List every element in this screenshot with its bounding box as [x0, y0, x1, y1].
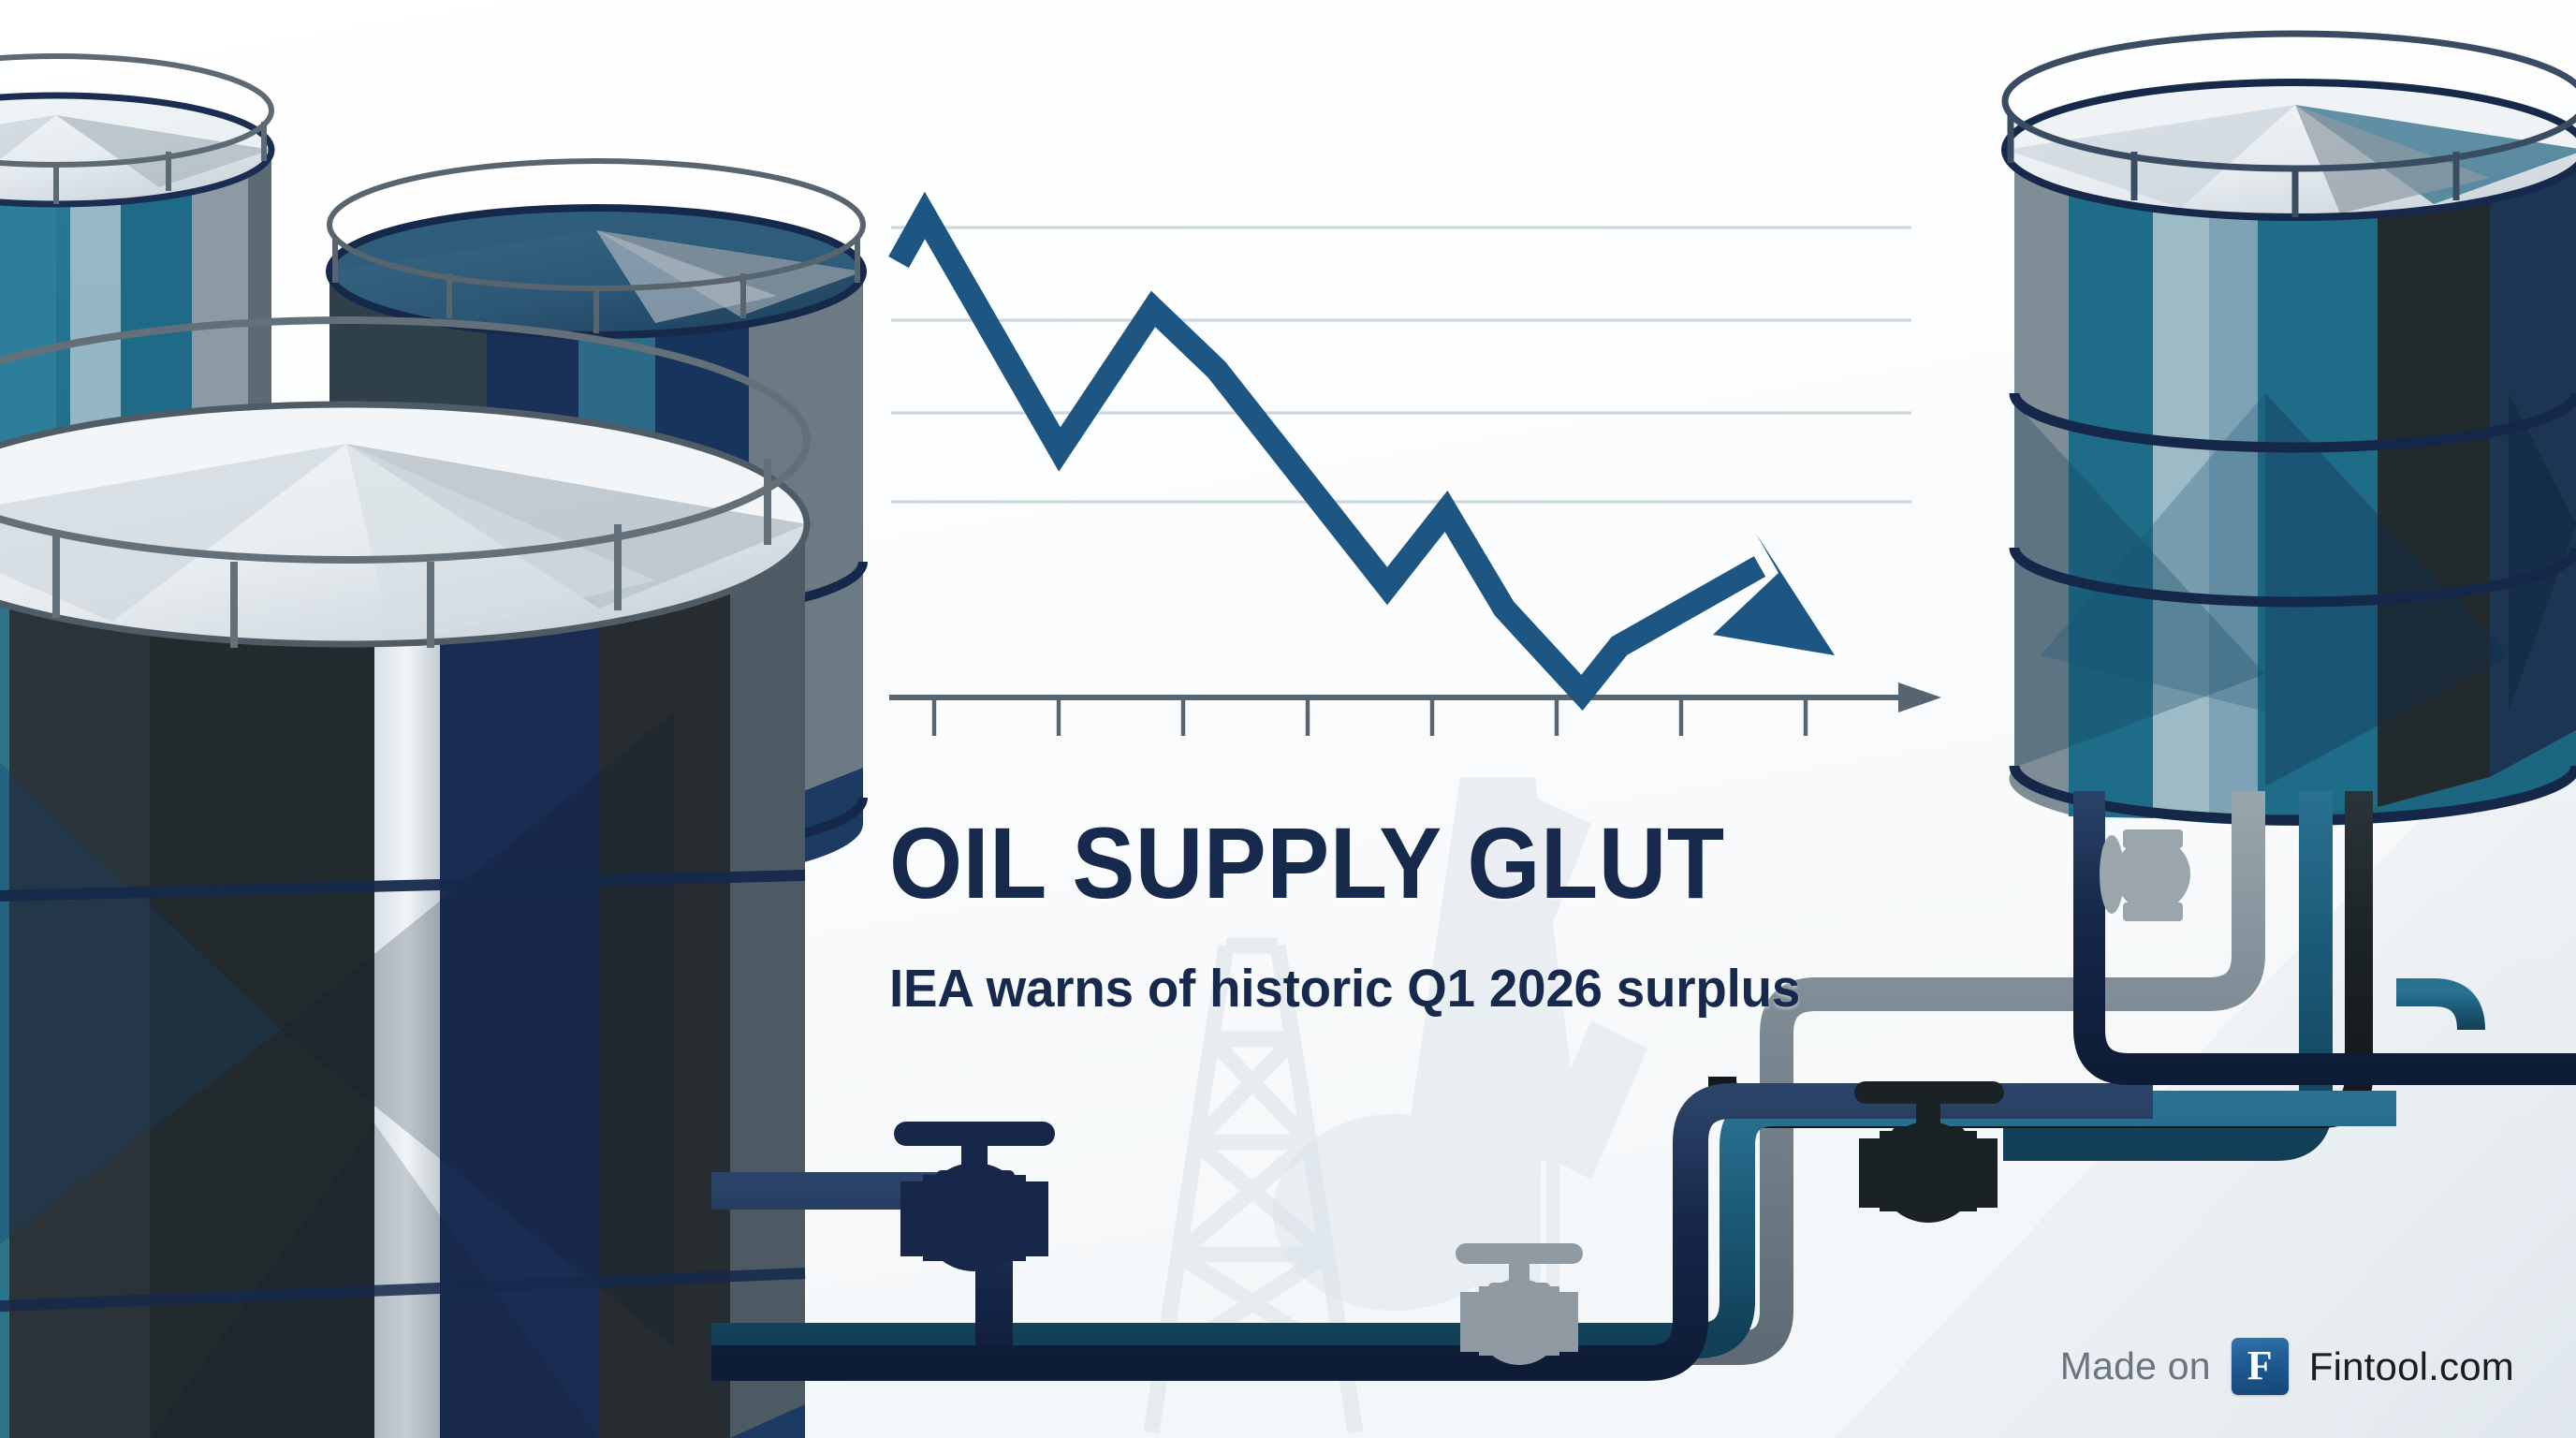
- valve-dark-right: [1854, 1081, 2004, 1223]
- tank-foreground: [0, 320, 807, 1438]
- valve-steel-riser: [2100, 829, 2190, 921]
- made-on-label: Made on: [2060, 1344, 2211, 1388]
- logo-letter: F: [2247, 1345, 2273, 1387]
- brand-name: Fintool.com: [2309, 1344, 2514, 1389]
- brand-footer[interactable]: Made on F Fintool.com: [2060, 1338, 2514, 1395]
- fintool-logo-icon: F: [2232, 1338, 2289, 1395]
- poster-canvas: OIL SUPPLY GLUT IEA warns of historic Q1…: [0, 0, 2576, 1438]
- valve-navy-left: [894, 1122, 1055, 1271]
- tank-right: [2005, 34, 2576, 826]
- scene-svg: [0, 0, 2576, 1438]
- valve-steel-mid: [1456, 1243, 1583, 1365]
- illustration-artboard: [0, 0, 2576, 1438]
